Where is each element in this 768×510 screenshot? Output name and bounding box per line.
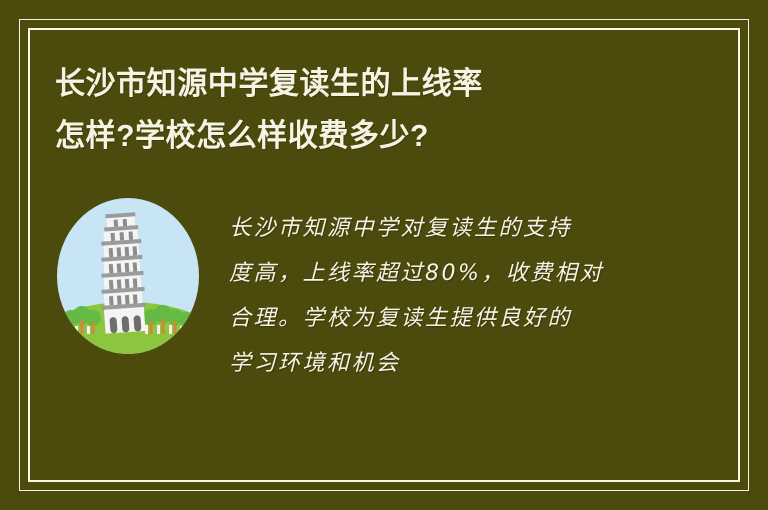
content-row: 长沙市知源中学对复读生的支持 度高，上线率超过80%，收费相对 合理。学校为复读…: [55, 196, 708, 386]
title-line-2: 怎样?学校怎么样收费多少?: [55, 110, 637, 162]
body-line-3: 合理。学校为复读生提供良好的: [229, 296, 708, 341]
body-paragraph: 长沙市知源中学对复读生的支持 度高，上线率超过80%，收费相对 合理。学校为复读…: [229, 196, 708, 386]
body-line-4: 学习环境和机会: [229, 341, 708, 386]
poster-card: 长沙市知源中学复读生的上线率 怎样?学校怎么样收费多少?: [0, 0, 768, 510]
body-line-2: 度高，上线率超过80%，收费相对: [229, 251, 708, 296]
illustration-container: [55, 196, 201, 356]
page-title: 长沙市知源中学复读生的上线率 怎样?学校怎么样收费多少?: [55, 58, 655, 162]
title-line-1: 长沙市知源中学复读生的上线率: [55, 58, 637, 110]
body-line-1: 长沙市知源中学对复读生的支持: [229, 206, 708, 251]
leaning-tower-of-pisa-icon: [55, 196, 201, 356]
